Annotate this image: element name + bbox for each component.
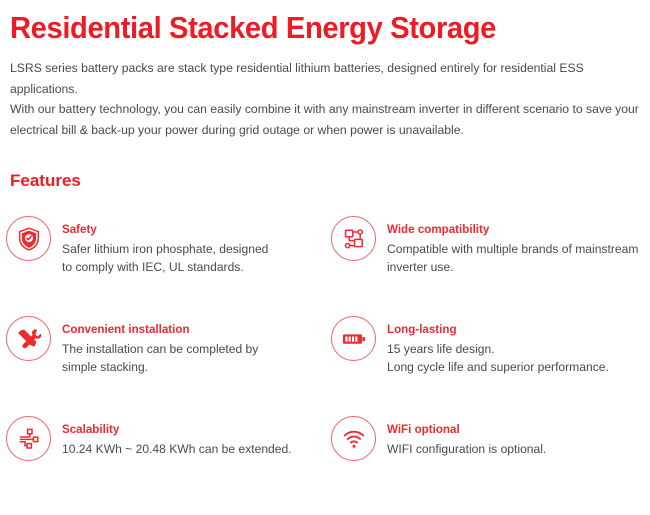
feature-title: Convenient installation — [62, 322, 258, 337]
features-heading: Features — [10, 140, 640, 192]
feature-text: Scalability 10.24 KWh ~ 20.48 KWh can be… — [62, 415, 292, 459]
feature-desc-line: inverter use. — [387, 259, 638, 277]
feature-text: Wide compatibility Compatible with multi… — [387, 215, 638, 276]
intro-paragraph: LSRS series battery packs are stack type… — [10, 47, 640, 140]
scalability-branch-icon — [6, 416, 51, 461]
feature-title: Scalability — [62, 422, 292, 437]
feature-text: WiFi optional WIFI configuration is opti… — [387, 415, 546, 459]
feature-desc-line: Safer lithium iron phosphate, designed — [62, 241, 268, 259]
feature-text: Convenient installation The installation… — [62, 315, 258, 376]
intro-line: With our battery technology, you can eas… — [10, 99, 640, 120]
feature-description: Safer lithium iron phosphate, designed t… — [62, 237, 268, 276]
feature-description: 10.24 KWh ~ 20.48 KWh can be extended. — [62, 437, 292, 459]
feature-item-safety: Safety Safer lithium iron phosphate, des… — [6, 215, 331, 315]
wifi-icon — [331, 416, 376, 461]
feature-title: WiFi optional — [387, 422, 546, 437]
feature-desc-line: Compatible with multiple brands of mains… — [387, 241, 638, 259]
feature-text: Long-lasting 15 years life design. Long … — [387, 315, 609, 376]
feature-text: Safety Safer lithium iron phosphate, des… — [62, 215, 268, 276]
network-nodes-icon — [331, 216, 376, 261]
feature-title: Wide compatibility — [387, 222, 638, 237]
feature-item-scalability: Scalability 10.24 KWh ~ 20.48 KWh can be… — [6, 415, 331, 487]
page-title: Residential Stacked Energy Storage — [10, 0, 602, 47]
feature-item-long-lasting: Long-lasting 15 years life design. Long … — [331, 315, 650, 415]
feature-item-convenient-installation: Convenient installation The installation… — [6, 315, 331, 415]
product-feature-page: Residential Stacked Energy Storage LSRS … — [0, 0, 650, 457]
feature-desc-line: WIFI configuration is optional. — [387, 441, 546, 459]
feature-desc-line: to comply with IEC, UL standards. — [62, 259, 268, 277]
features-grid: Safety Safer lithium iron phosphate, des… — [6, 215, 640, 515]
feature-description: 15 years life design. Long cycle life an… — [387, 337, 609, 376]
feature-desc-line: simple stacking. — [62, 359, 258, 377]
intro-line: electrical bill & back-up your power dur… — [10, 120, 640, 141]
shield-check-icon — [6, 216, 51, 261]
feature-title: Safety — [62, 222, 268, 237]
feature-item-wifi-optional: WiFi optional WIFI configuration is opti… — [331, 415, 650, 487]
feature-desc-line: The installation can be completed by — [62, 341, 258, 359]
feature-title: Long-lasting — [387, 322, 609, 337]
crossed-tools-icon — [6, 316, 51, 361]
intro-line: LSRS series battery packs are stack type… — [10, 58, 640, 99]
feature-description: WIFI configuration is optional. — [387, 437, 546, 459]
feature-description: The installation can be completed by sim… — [62, 337, 258, 376]
feature-desc-line: 15 years life design. — [387, 341, 609, 359]
feature-item-wide-compatibility: Wide compatibility Compatible with multi… — [331, 215, 650, 315]
feature-desc-line: 10.24 KWh ~ 20.48 KWh can be extended. — [62, 441, 292, 459]
feature-description: Compatible with multiple brands of mains… — [387, 237, 638, 276]
battery-icon — [331, 316, 376, 361]
feature-desc-line: Long cycle life and superior performance… — [387, 359, 609, 377]
